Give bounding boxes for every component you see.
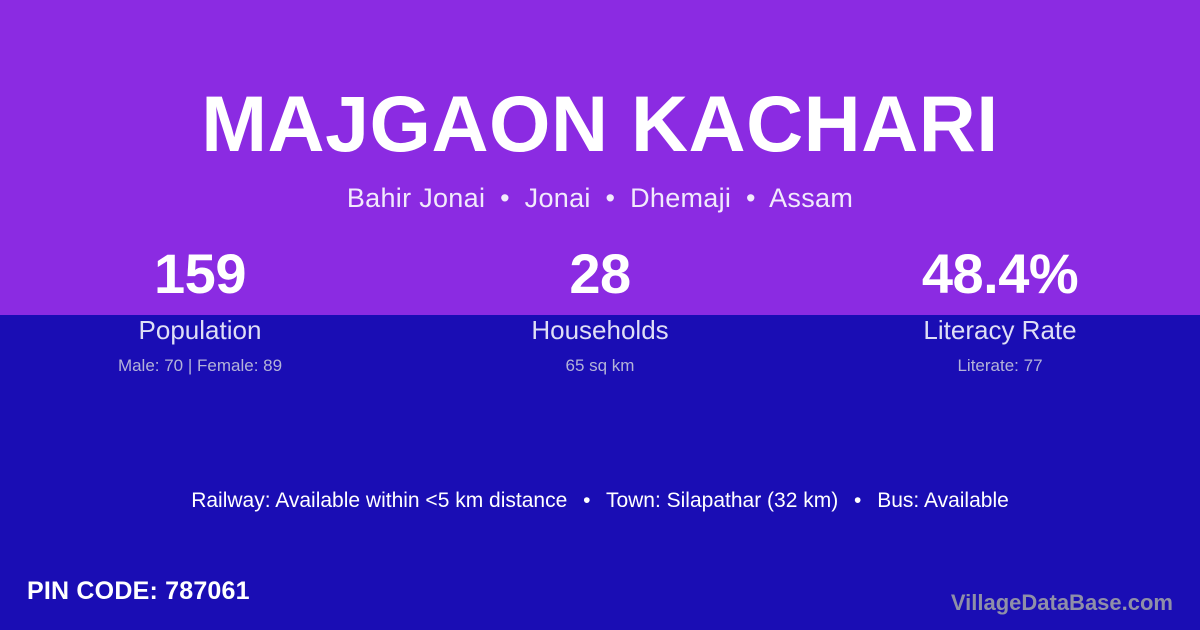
breadcrumb-separator-icon: •	[739, 182, 763, 214]
amenity-bus: Bus: Available	[877, 489, 1009, 512]
breadcrumb: Bahir Jonai • Jonai • Dhemaji • Assam	[0, 182, 1200, 214]
amenity-railway: Railway: Available within <5 km distance	[191, 489, 567, 512]
stat-households: 28 Households 65 sq km	[400, 243, 800, 377]
stat-literacy-rate-sub: Literate: 77	[800, 355, 1200, 377]
stat-population-label: Population	[0, 313, 400, 347]
pin-code: PIN CODE: 787061	[27, 576, 250, 606]
stat-literacy-rate: 48.4% Literacy Rate Literate: 77	[800, 243, 1200, 377]
amenity-separator-icon: •	[844, 487, 871, 515]
breadcrumb-item-state: Assam	[769, 183, 853, 213]
breadcrumb-separator-icon: •	[599, 182, 623, 214]
breadcrumb-item-block: Bahir Jonai	[347, 183, 485, 213]
stat-population-value: 159	[0, 243, 400, 305]
stat-households-sub: 65 sq km	[400, 355, 800, 377]
stat-literacy-rate-label: Literacy Rate	[800, 313, 1200, 347]
stat-population-sub: Male: 70 | Female: 89	[0, 355, 400, 377]
stat-literacy-rate-value: 48.4%	[800, 243, 1200, 305]
breadcrumb-item-subdistrict: Jonai	[525, 183, 591, 213]
page-title: MAJGAON KACHARI	[0, 84, 1200, 163]
stat-population: 159 Population Male: 70 | Female: 89	[0, 243, 400, 377]
stat-households-label: Households	[400, 313, 800, 347]
amenity-separator-icon: •	[573, 487, 600, 515]
site-watermark: VillageDataBase.com	[951, 589, 1173, 617]
stats-row: 159 Population Male: 70 | Female: 89 28 …	[0, 243, 1200, 377]
village-info-card: MAJGAON KACHARI Bahir Jonai • Jonai • Dh…	[0, 0, 1200, 630]
amenities-line: Railway: Available within <5 km distance…	[0, 487, 1200, 515]
amenity-nearest-town: Town: Silapathar (32 km)	[606, 489, 838, 512]
stat-households-value: 28	[400, 243, 800, 305]
breadcrumb-item-district: Dhemaji	[630, 183, 731, 213]
breadcrumb-separator-icon: •	[493, 182, 517, 214]
